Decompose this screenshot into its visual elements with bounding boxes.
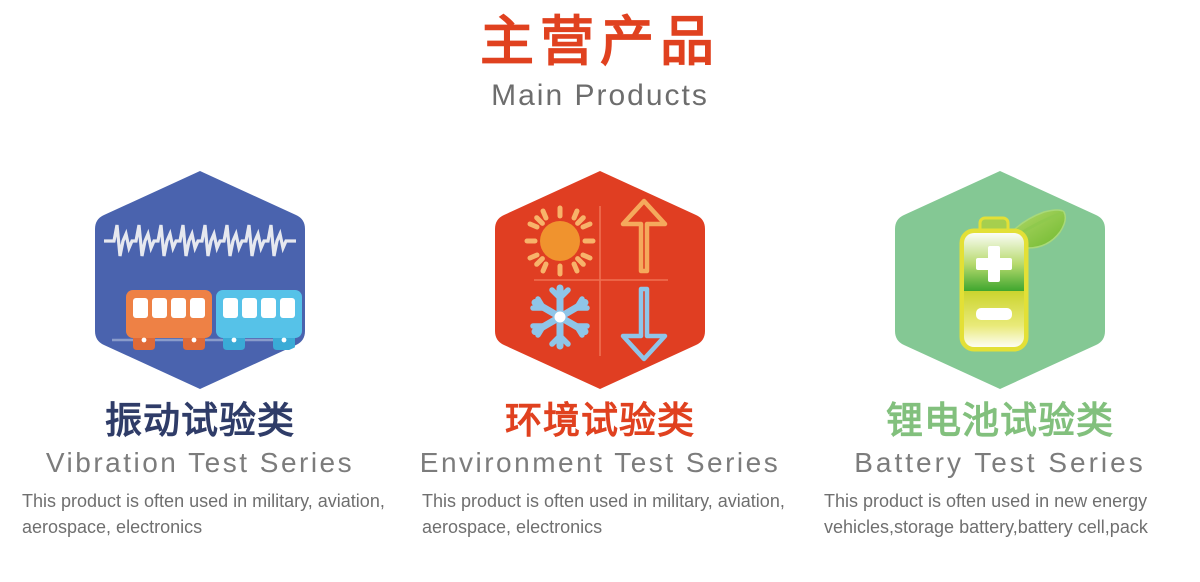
product-list: 振动试验类 Vibration Test Series This product… [0,168,1200,540]
product-title-en-vibration: Vibration Test Series [46,447,354,479]
sun-icon [527,208,593,274]
page-title-cn: 主营产品 [0,14,1200,71]
product-title-cn-environment: 环境试验类 [505,400,695,443]
product-card-battery[interactable]: 锂电池试验类 Battery Test Series This product … [800,168,1200,540]
page-header: 主营产品 Main Products [0,0,1200,113]
product-title-en-battery: Battery Test Series [854,447,1145,479]
sun-snowflake-arrows-icon [492,168,708,392]
product-card-environment[interactable]: 环境试验类 Environment Test Series This produ… [400,168,800,540]
product-title-cn-battery: 锂电池试验类 [886,400,1114,443]
product-title-en-environment: Environment Test Series [420,447,780,479]
battery-leaf-icon [892,168,1108,392]
battery-body [962,231,1026,349]
product-description-battery: This product is often used in new energy… [824,488,1196,540]
vibration-waveform-train-icon [92,168,308,392]
product-description-vibration: This product is often used in military, … [22,488,394,540]
product-card-vibration[interactable]: 振动试验类 Vibration Test Series This product… [0,168,400,540]
battery-minus-symbol [976,308,1012,320]
product-description-environment: This product is often used in military, … [422,488,794,540]
product-title-cn-vibration: 振动试验类 [105,400,295,443]
page-title-en: Main Products [0,79,1200,113]
hexagon-shape [95,171,305,389]
